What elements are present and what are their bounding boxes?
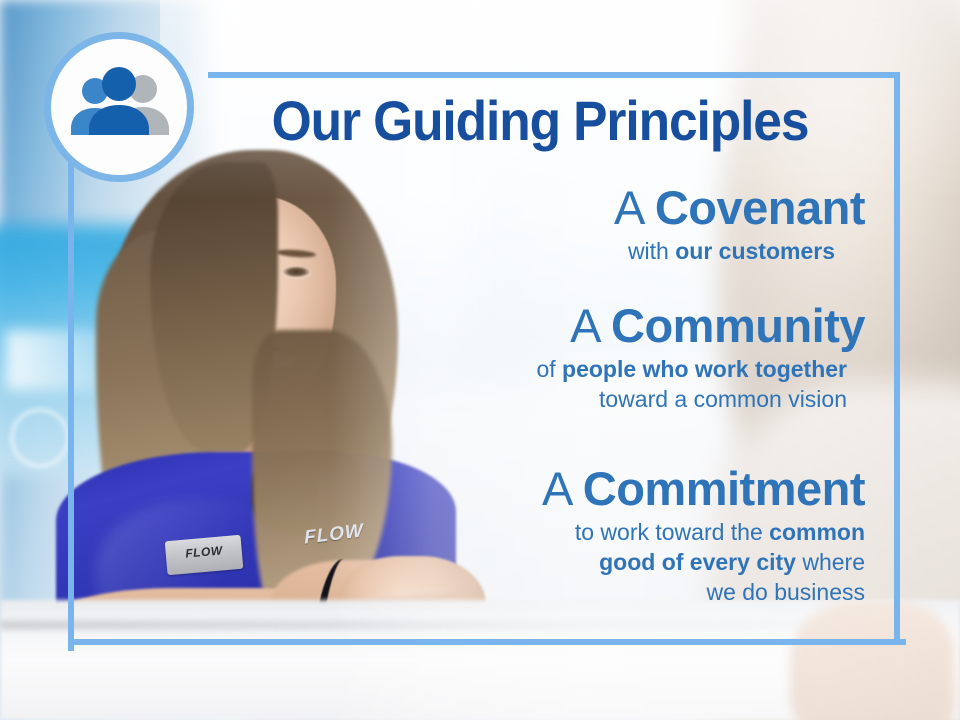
principle-community-sub: of people who work together toward a com… — [300, 354, 865, 415]
car-emblem — [10, 408, 70, 468]
principle-community-keyword: Community — [611, 299, 865, 352]
principle-covenant-sub: with our customers — [300, 236, 865, 266]
principle-covenant-lead: A — [614, 181, 655, 234]
principle-commitment-keyword: Commitment — [583, 462, 865, 515]
principle-covenant: A Covenant with our customers — [300, 182, 865, 266]
sub-text-plain-3: we do business — [706, 579, 865, 605]
people-group-icon — [63, 67, 175, 147]
sub-text-plain: of — [536, 356, 562, 382]
principle-commitment-title: A Commitment — [300, 463, 865, 515]
blurred-person-right-hand — [790, 600, 955, 720]
sub-text-bold: our customers — [675, 238, 835, 264]
guiding-principles-graphic: FLOW FLOW Ou — [0, 0, 960, 720]
desk-edge — [0, 620, 820, 630]
principle-community: A Community of people who work together … — [300, 300, 865, 414]
page-title: Our Guiding Principles — [227, 92, 853, 150]
principle-commitment-lead: A — [542, 462, 583, 515]
sub-text-bold: people who work together — [562, 356, 847, 382]
principle-commitment: A Commitment to work toward the common g… — [300, 463, 865, 608]
sub-text-bold-2: good of every city — [599, 549, 796, 575]
sub-text-plain-2: toward a common vision — [599, 386, 847, 412]
principle-covenant-title: A Covenant — [300, 182, 865, 234]
people-group-badge — [44, 32, 194, 182]
woman-eye-right — [282, 266, 312, 279]
sub-text-bold: common — [769, 519, 865, 545]
sub-text-plain-2: where — [796, 549, 865, 575]
principle-covenant-keyword: Covenant — [655, 181, 865, 234]
sub-text-plain: to work toward the — [575, 519, 769, 545]
principle-commitment-sub: to work toward the common good of every … — [300, 517, 865, 608]
sub-text-plain: with — [628, 238, 675, 264]
principle-community-title: A Community — [300, 300, 865, 352]
principle-community-lead: A — [570, 299, 611, 352]
